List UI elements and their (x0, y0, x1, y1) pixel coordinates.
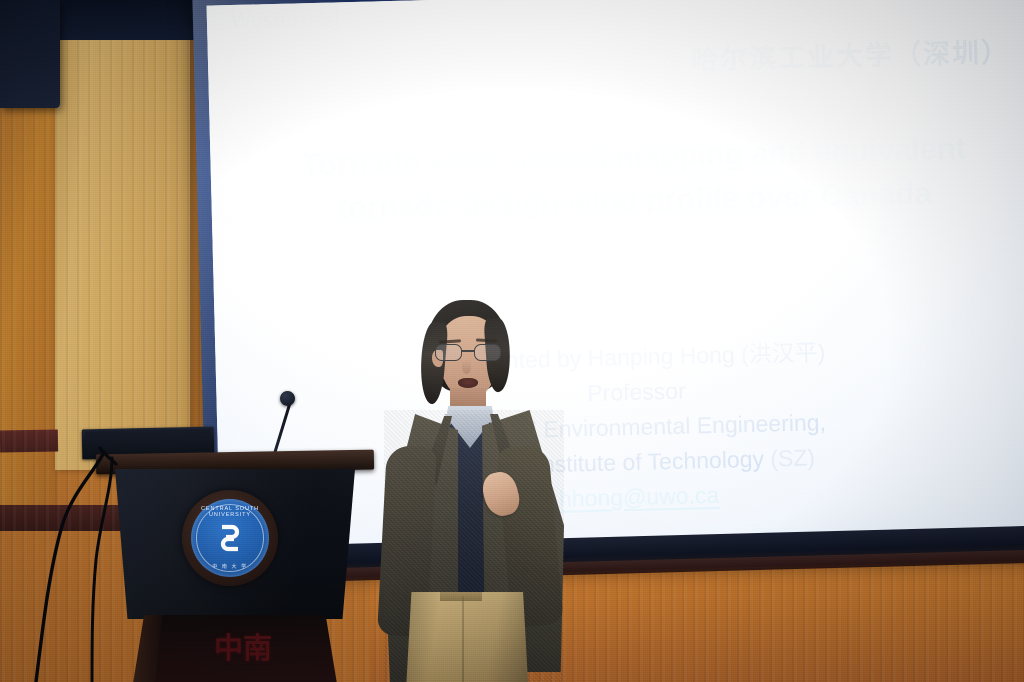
presenter-nose (462, 360, 471, 374)
emblem-text-bottom: 中 南 大 学 (191, 563, 269, 570)
interlocking-squares-icon (210, 518, 250, 558)
lens-right (474, 344, 501, 361)
byline-institution-campus: (SZ) (770, 444, 815, 471)
presenter-trousers-seam (462, 596, 464, 682)
emblem-text-top: CENTRAL SOUTH UNIVERSITY (191, 506, 269, 518)
hit-chinese-name: 哈尔滨工业大学（深圳） (691, 30, 1011, 77)
presenter (378, 296, 568, 682)
presenter-mouth (458, 378, 478, 388)
presentation-photo-scene: Western (0, 0, 1024, 682)
eyeglasses-icon (434, 344, 504, 362)
svg-text:HIT: HIT (647, 63, 656, 69)
byline-presenter-chinese: (洪汉平) (741, 339, 826, 367)
western-wordmark: Western (229, 5, 314, 35)
gear-crest-icon: HIT 1920 (621, 39, 682, 100)
hit-english-name: HARBIN INSTITUTE OF TECHNOLOGY, SHENZHEN (692, 74, 1011, 89)
slide-title: Tornado wind hazard mapping and equivale… (288, 126, 980, 231)
presenter-belt (440, 592, 482, 601)
cable-icon (0, 430, 200, 682)
shield-icon (319, 5, 339, 32)
glasses-bridge (462, 350, 474, 352)
ceiling-speaker-box (0, 0, 60, 108)
wall-panel-tan (55, 0, 190, 470)
email-link[interactable]: hhong@uwo.ca (559, 482, 720, 512)
svg-text:1920: 1920 (646, 72, 657, 77)
lens-left (435, 344, 462, 361)
hit-logo-text: 哈尔滨工业大学（深圳） HARBIN INSTITUTE OF TECHNOLO… (691, 30, 1011, 89)
microphone-head (280, 391, 295, 406)
emblem-ring: CENTRAL SOUTH UNIVERSITY 中 南 大 学 (191, 499, 269, 577)
harbin-institute-logo: HIT 1920 哈尔滨工业大学（深圳） HARBIN INSTITUTE OF… (621, 30, 1011, 100)
podium-chinese-characters: 中南 (208, 634, 278, 663)
western-university-logo: Western (229, 4, 339, 35)
presenter-trousers-shading (404, 592, 528, 682)
